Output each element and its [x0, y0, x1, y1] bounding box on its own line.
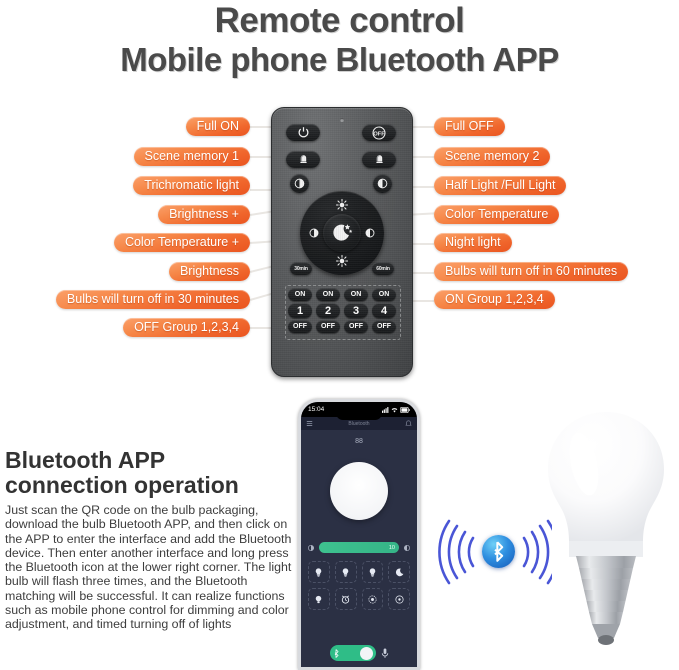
power-off-button[interactable]: OFF — [362, 124, 396, 141]
night-light-button[interactable] — [323, 214, 361, 252]
callout-timer-60[interactable]: Bulbs will turn off in 60 minutes — [434, 262, 628, 281]
brightness-dial-section: 88 — [301, 430, 417, 538]
microphone-icon — [381, 648, 389, 659]
status-icons — [382, 407, 410, 413]
sun-up-icon — [335, 198, 349, 212]
bulb-illustration — [536, 406, 676, 664]
menu-icon — [306, 420, 313, 427]
led-bulb-image — [536, 406, 676, 664]
group-3-on-button[interactable]: ON — [344, 288, 368, 301]
phone-bottom-bar — [301, 645, 417, 661]
bluetooth-badge — [482, 535, 515, 568]
bluetooth-icon — [490, 541, 507, 562]
group-button-grid: ON 1 OFF ON 2 OFF ON 3 OFF ON 4 OFF — [285, 285, 401, 340]
color-temperature-minus-button[interactable] — [361, 224, 379, 242]
group-3-number[interactable]: 3 — [344, 303, 368, 318]
tile-bulb-bright[interactable] — [362, 561, 384, 583]
scene-bell-icon — [373, 153, 386, 166]
dial-knob[interactable] — [330, 462, 388, 520]
group-2-off-button[interactable]: OFF — [316, 320, 340, 333]
title-line-1: Remote control — [0, 0, 679, 40]
group-4-off-button[interactable]: OFF — [372, 320, 396, 333]
off-icon: OFF — [371, 125, 387, 141]
group-4-number[interactable]: 4 — [372, 303, 396, 318]
wifi-icon — [391, 407, 398, 413]
phone-status-bar: 15:04 — [301, 402, 417, 417]
brightness-slider[interactable]: 10 — [319, 542, 399, 553]
brightness-slider-row: 10 — [301, 542, 417, 553]
bulb-bright-icon — [367, 567, 378, 578]
callout-trichromatic-light[interactable]: Trichromatic light — [133, 176, 250, 195]
bluetooth-connection-indicator — [432, 512, 552, 592]
battery-icon — [400, 407, 410, 413]
moon-stars-icon — [330, 221, 354, 245]
scene-memory-2-button[interactable] — [362, 151, 396, 168]
contrast-left-icon — [308, 227, 320, 239]
bulb-cool-icon — [340, 567, 351, 578]
contrast-circle-icon — [293, 177, 306, 190]
section-body-text: Just scan the QR code on the bulb packag… — [5, 503, 293, 632]
contrast-high-icon — [403, 544, 411, 552]
timer-60min-button[interactable]: 60min — [372, 262, 394, 275]
callout-full-on[interactable]: Full ON — [186, 117, 250, 136]
bulb-glass — [548, 412, 664, 541]
section-title-line-1: Bluetooth APP — [5, 448, 295, 473]
bell-icon — [405, 420, 412, 427]
scene-memory-1-button[interactable] — [286, 151, 320, 168]
group-3-off-button[interactable]: OFF — [344, 320, 368, 333]
signal-icon — [382, 407, 389, 413]
group-4-on-button[interactable]: ON — [372, 288, 396, 301]
brightness-up-button[interactable] — [332, 196, 352, 214]
callout-color-temperature-plus[interactable]: Color Temperature + — [114, 233, 250, 252]
alarm-icon — [340, 594, 351, 605]
callout-full-off[interactable]: Full OFF — [434, 117, 505, 136]
group-2-on-button[interactable]: ON — [316, 288, 340, 301]
trichromatic-light-button[interactable] — [290, 174, 309, 193]
tile-color-wheel[interactable] — [362, 588, 384, 610]
toggle-knob[interactable] — [360, 647, 373, 660]
power-icon — [296, 125, 311, 140]
tile-night-mode[interactable] — [388, 561, 410, 583]
dial-value-label: 88 — [301, 438, 417, 445]
callout-off-group[interactable]: OFF Group 1,2,3,4 — [123, 318, 250, 337]
callout-brightness[interactable]: Brightness — [169, 262, 250, 281]
callout-color-temperature[interactable]: Color Temperature — [434, 205, 559, 224]
color-wheel-icon — [367, 594, 378, 605]
contrast-low-icon — [307, 544, 315, 552]
bulb-shape-icon — [313, 594, 324, 605]
tile-bulb-cool[interactable] — [335, 561, 357, 583]
group-column-3: ON 3 OFF — [344, 288, 368, 335]
status-time: 15:04 — [308, 406, 324, 413]
callout-night-light[interactable]: Night light — [434, 233, 512, 252]
callout-half-full-light[interactable]: Half Light /Full Light — [434, 176, 566, 195]
bluetooth-small-icon — [333, 649, 340, 658]
music-icon — [394, 594, 405, 605]
callout-timer-30[interactable]: Bulbs will turn off in 30 minutes — [56, 290, 250, 309]
section-title: Bluetooth APP connection operation — [5, 448, 295, 498]
dynamic-island — [336, 406, 382, 420]
scene-tile-grid — [301, 553, 417, 610]
tile-bulb-warm[interactable] — [308, 561, 330, 583]
power-on-button[interactable] — [286, 124, 320, 141]
directional-pad — [300, 191, 384, 275]
bluetooth-toggle[interactable] — [330, 645, 376, 661]
section-title-line-2: connection operation — [5, 473, 295, 498]
timer-30min-button[interactable]: 30min — [290, 262, 312, 275]
group-column-4: ON 4 OFF — [372, 288, 396, 335]
callout-brightness-plus[interactable]: Brightness + — [158, 205, 250, 224]
slider-value: 10 — [389, 545, 395, 551]
group-1-number[interactable]: 1 — [288, 303, 312, 318]
color-temperature-plus-button[interactable] — [305, 224, 323, 242]
bulb-screw-base — [576, 556, 636, 645]
svg-text:OFF: OFF — [373, 131, 385, 137]
remote-control-device: OFF — [271, 107, 413, 377]
bulb-neck — [569, 541, 643, 557]
tile-alarm[interactable] — [335, 588, 357, 610]
ir-led-indicator — [340, 118, 344, 122]
bulb-warm-icon — [313, 567, 324, 578]
phone-screen: 15:04 Bl — [301, 402, 417, 667]
sun-down-icon — [335, 254, 349, 268]
callout-on-group[interactable]: ON Group 1,2,3,4 — [434, 290, 555, 309]
contrast-right-icon — [364, 227, 376, 239]
scene-bell-icon — [297, 153, 310, 166]
group-column-1: ON 1 OFF — [288, 288, 312, 335]
half-moon-icon — [376, 177, 389, 190]
tile-music[interactable] — [388, 588, 410, 610]
group-1-on-button[interactable]: ON — [288, 288, 312, 301]
callout-scene-memory-2[interactable]: Scene memory 2 — [434, 147, 550, 166]
title-line-2: Mobile phone Bluetooth APP — [0, 40, 679, 80]
app-title: Bluetooth — [348, 421, 369, 427]
moon-icon — [394, 567, 405, 578]
group-1-off-button[interactable]: OFF — [288, 320, 312, 333]
half-full-light-button[interactable] — [373, 174, 392, 193]
smartphone-mockup: 15:04 Bl — [298, 399, 420, 670]
group-column-2: ON 2 OFF — [316, 288, 340, 335]
page-title: Remote control Mobile phone Bluetooth AP… — [0, 0, 679, 80]
brightness-down-button[interactable] — [332, 252, 352, 270]
group-2-number[interactable]: 2 — [316, 303, 340, 318]
tile-bulb-shape[interactable] — [308, 588, 330, 610]
callout-scene-memory-1[interactable]: Scene memory 1 — [134, 147, 250, 166]
brightness-dial[interactable] — [321, 453, 397, 529]
